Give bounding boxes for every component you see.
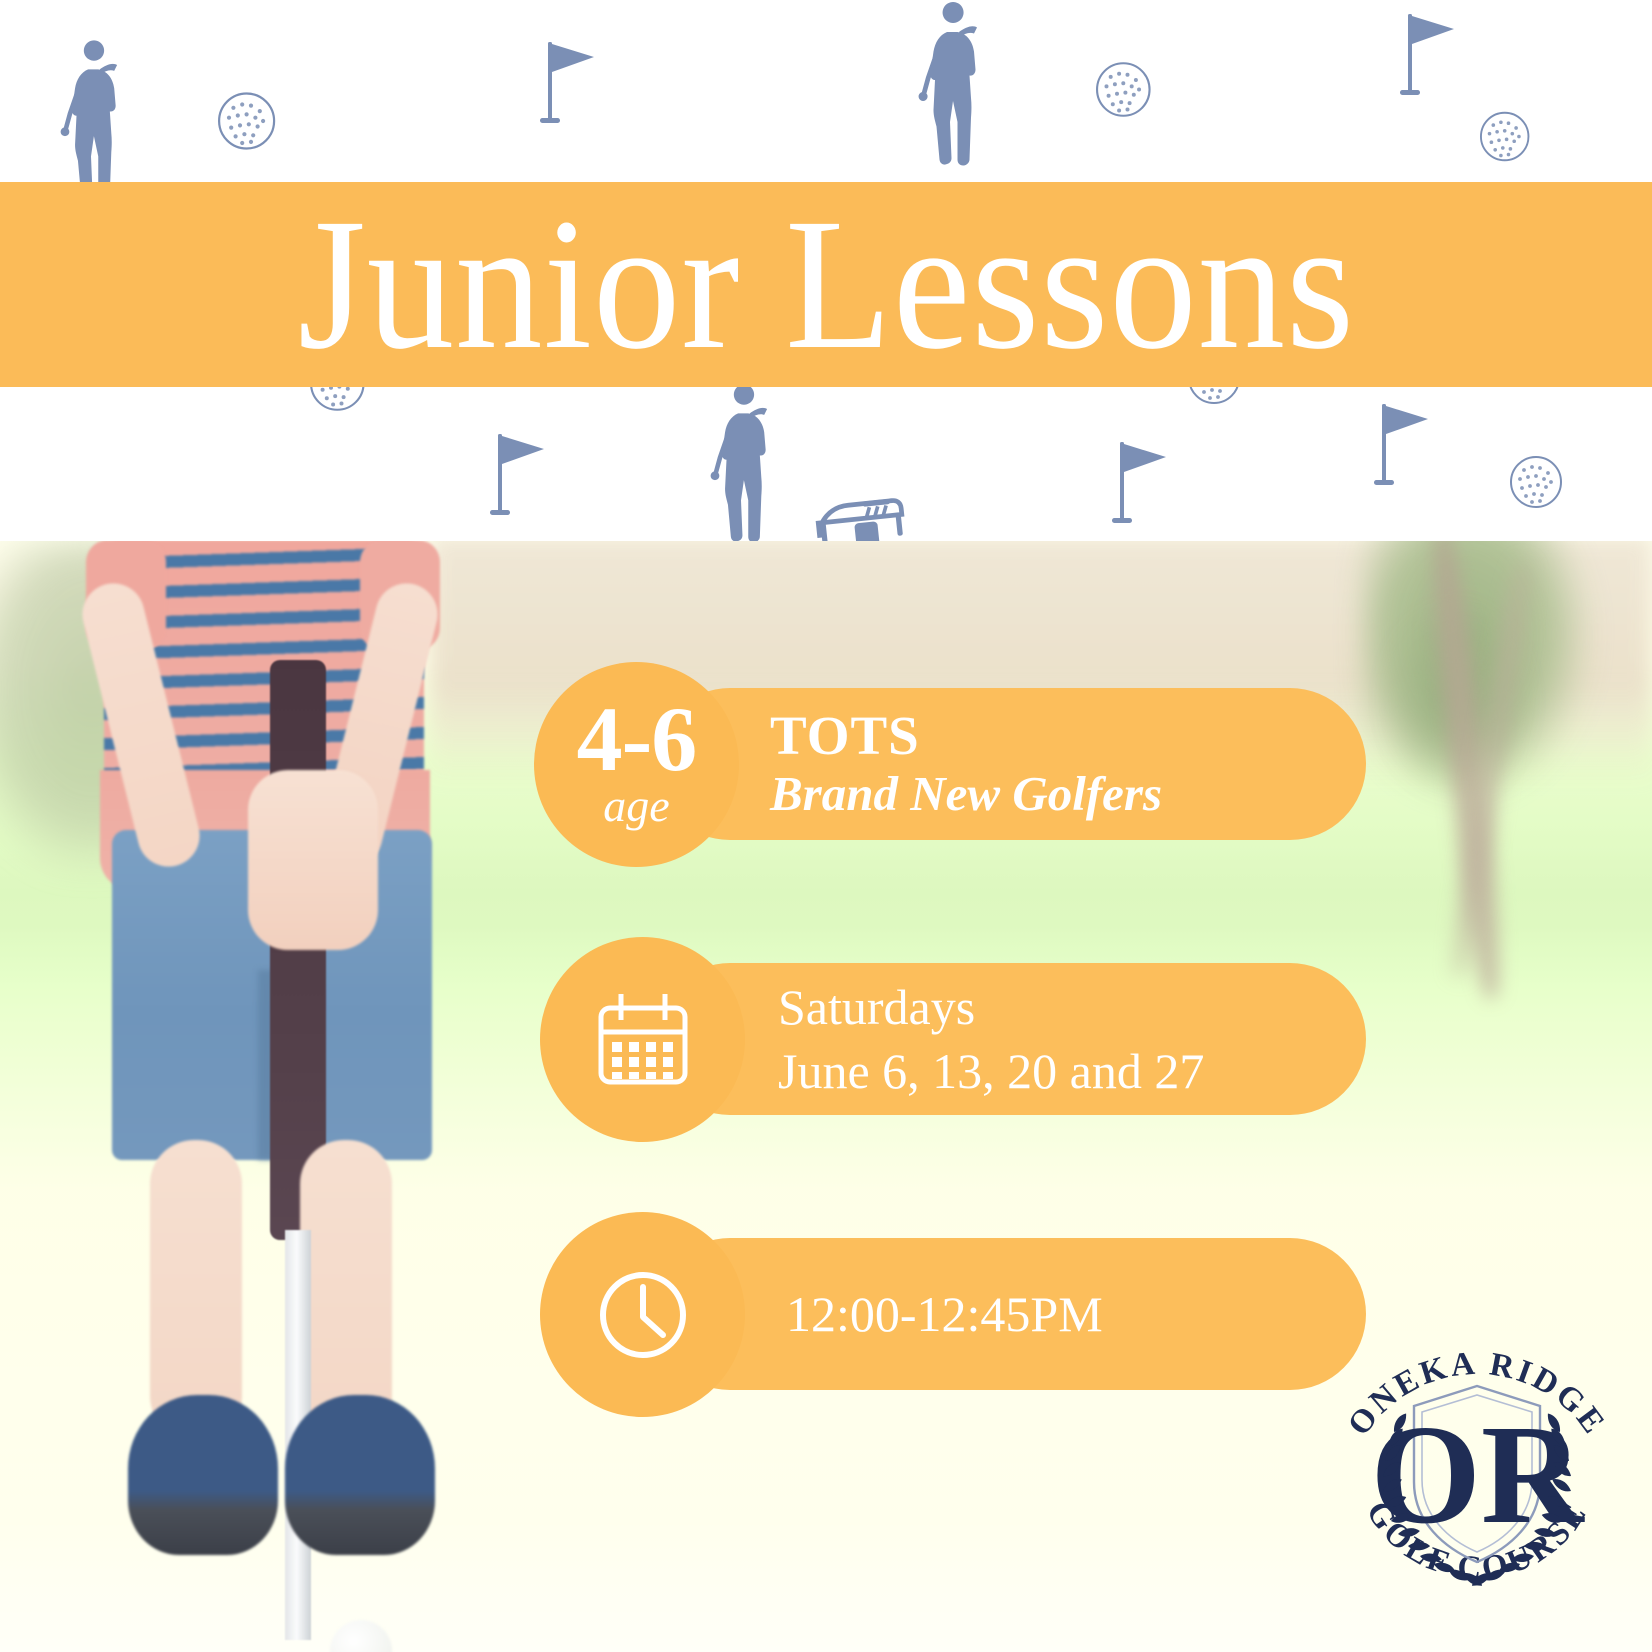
sandal-right [285, 1395, 435, 1555]
schedule-time-info: 12:00-12:45PM [786, 1284, 1103, 1344]
age-label: age [603, 783, 669, 829]
poster-canvas: Junior Lessons 4-6 age TOTS Brand New Go… [0, 0, 1652, 1652]
hands-on-grip [248, 770, 378, 950]
schedule-time: 12:00-12:45PM [786, 1284, 1103, 1344]
age-badge: 4-6 age [534, 662, 739, 867]
age-program-card: 4-6 age TOTS Brand New Golfers [654, 688, 1366, 840]
golf-ball [330, 1620, 392, 1652]
schedule-date-card: Saturdays June 6, 13, 20 and 27 [654, 963, 1366, 1115]
calendar-badge [540, 937, 745, 1142]
calendar-icon [591, 988, 695, 1092]
schedule-day: Saturdays [778, 975, 1204, 1039]
page-title: Junior Lessons [297, 198, 1354, 371]
clock-icon [591, 1263, 695, 1367]
logo-svg: ONEKA RIDGE GOLF COURSE OR [1318, 1300, 1636, 1630]
oneka-ridge-logo: ONEKA RIDGE GOLF COURSE OR [1318, 1300, 1636, 1630]
child-golfer-photo [0, 540, 520, 1652]
program-subtitle: Brand New Golfers [770, 766, 1162, 822]
program-name: TOTS [770, 706, 1162, 765]
schedule-time-card: 12:00-12:45PM [654, 1238, 1366, 1390]
clock-badge [540, 1212, 745, 1417]
program-info: TOTS Brand New Golfers [770, 706, 1162, 821]
schedule-date-info: Saturdays June 6, 13, 20 and 27 [778, 975, 1204, 1103]
title-banner: Junior Lessons [0, 182, 1652, 387]
age-range: 4-6 [577, 700, 697, 778]
sandal-left [128, 1395, 278, 1555]
schedule-dates: June 6, 13, 20 and 27 [778, 1039, 1204, 1103]
